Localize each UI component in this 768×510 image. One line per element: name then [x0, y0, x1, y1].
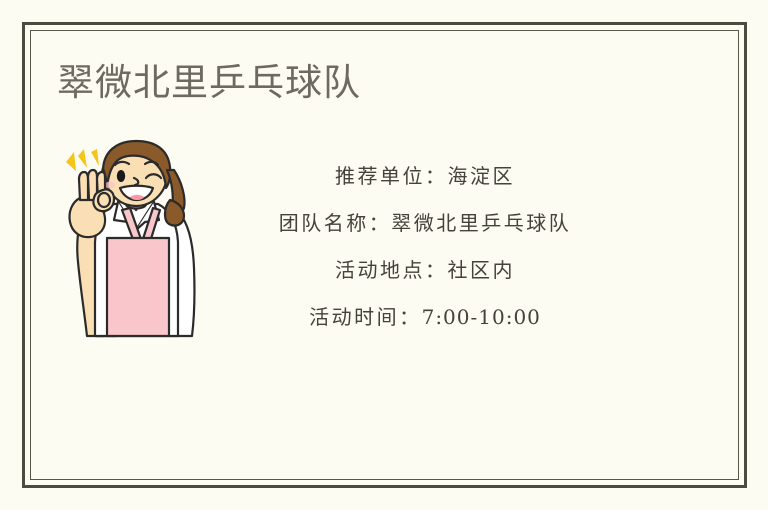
info-value-activity-time: 7:00-10:00 — [422, 305, 541, 329]
info-line-activity-location: 活动地点：社区内 — [225, 259, 625, 282]
info-label-activity-location: 活动地点： — [335, 258, 448, 282]
info-value-activity-location: 社区内 — [448, 258, 516, 282]
info-label-activity-time: 活动时间： — [309, 305, 422, 329]
info-label-recommending-unit: 推荐单位： — [335, 164, 448, 188]
info-label-team-name: 团队名称： — [279, 211, 392, 235]
info-line-recommending-unit: 推荐单位：海淀区 — [225, 165, 625, 188]
cheering-woman-ok-gesture-illustration — [58, 138, 208, 350]
sparkle-icon — [66, 149, 99, 171]
page-title: 翠微北里乒乓球队 — [57, 60, 361, 106]
info-line-team-name: 团队名称：翠微北里乒乓球队 — [225, 212, 625, 235]
team-info-card: 翠微北里乒乓球队 — [0, 0, 768, 510]
info-value-team-name: 翠微北里乒乓球队 — [391, 211, 571, 235]
team-info-list: 推荐单位：海淀区 团队名称：翠微北里乒乓球队 活动地点：社区内 活动时间：7:0… — [225, 165, 625, 329]
info-line-activity-time: 活动时间：7:00-10:00 — [225, 306, 625, 329]
info-value-recommending-unit: 海淀区 — [448, 164, 516, 188]
